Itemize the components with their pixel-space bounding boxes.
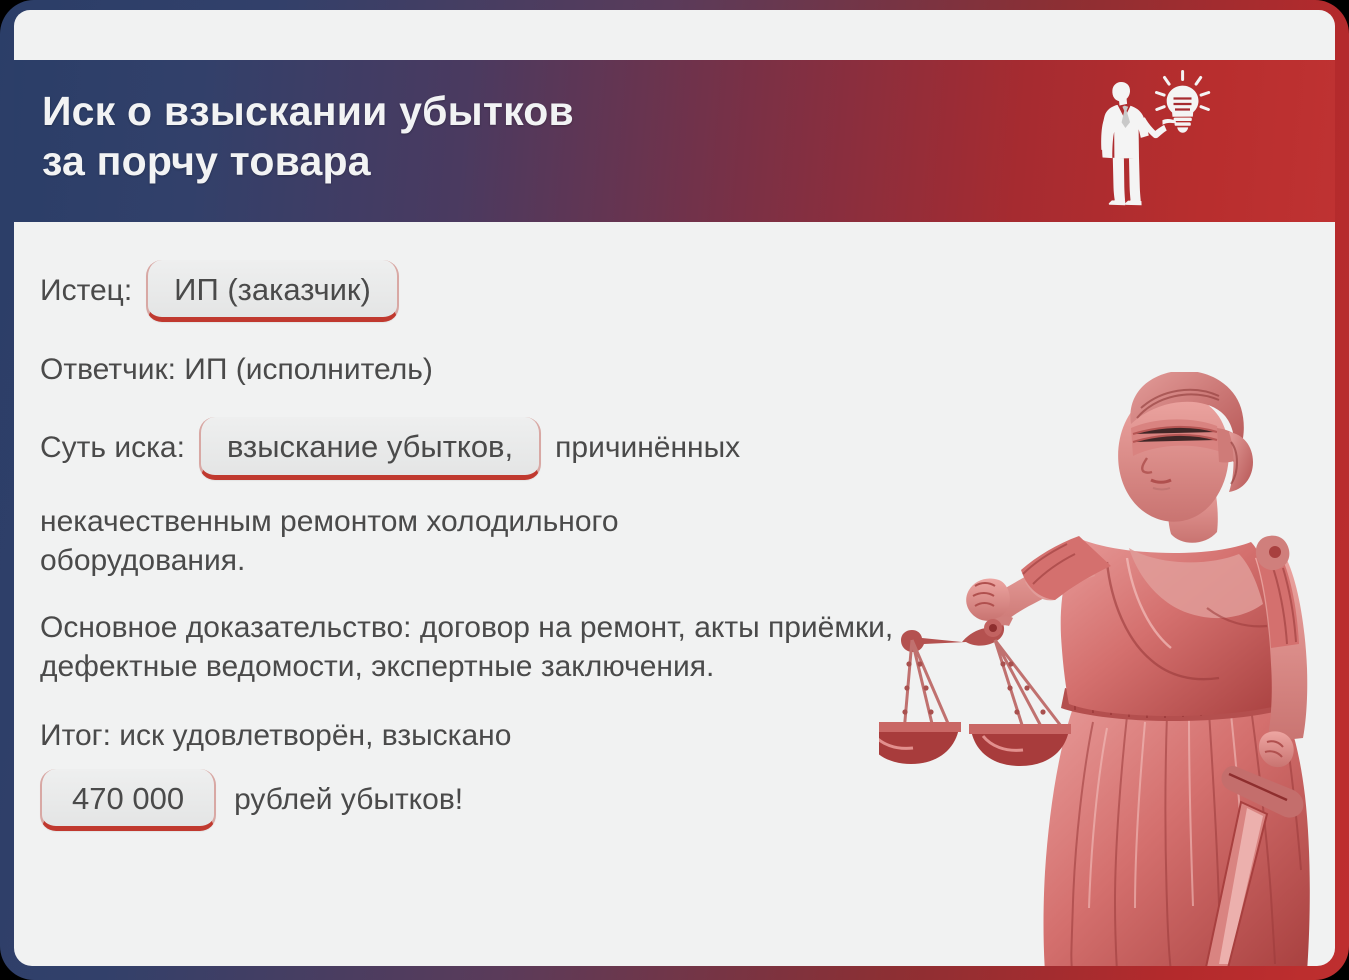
businessman-lightbulb-icon: [1074, 60, 1224, 222]
card-frame: Иск о взыскании убытков за порчу товара: [0, 0, 1349, 980]
plaintiff-label: Истец:: [40, 272, 132, 310]
top-strip: [14, 10, 1335, 60]
claim-value-pill[interactable]: взыскание убытков,: [199, 417, 541, 479]
result-row: Итог: иск удовлетворён, взыскано: [40, 716, 1000, 755]
card-body: Истец: ИП (заказчик) Ответчик: ИП (испол…: [14, 222, 1335, 966]
card-header: Иск о взыскании убытков за порчу товара: [14, 60, 1335, 222]
defendant-row: Ответчик: ИП (исполнитель): [40, 350, 1000, 389]
evidence-row: Основное доказательство: договор на ремо…: [40, 608, 940, 686]
claim-row: Суть иска: взыскание убытков, причинённы…: [40, 417, 1000, 479]
amount-value-pill[interactable]: 470 000: [40, 769, 216, 831]
page-title: Иск о взыскании убытков за порчу товара: [42, 86, 574, 187]
amount-row: 470 000 рублей убытков!: [40, 769, 1000, 831]
claim-label: Суть иска:: [40, 429, 185, 467]
plaintiff-row: Истец: ИП (заказчик): [40, 260, 1000, 322]
claim-continued: некачественным ремонтом холодильного обо…: [40, 502, 830, 580]
plaintiff-value-pill[interactable]: ИП (заказчик): [146, 260, 399, 322]
claim-tail: причинённых: [555, 429, 740, 467]
screenshot-root: Иск о взыскании убытков за порчу товара: [0, 0, 1349, 980]
amount-suffix: рублей убытков!: [234, 781, 463, 819]
case-content: Истец: ИП (заказчик) Ответчик: ИП (испол…: [40, 236, 1000, 831]
